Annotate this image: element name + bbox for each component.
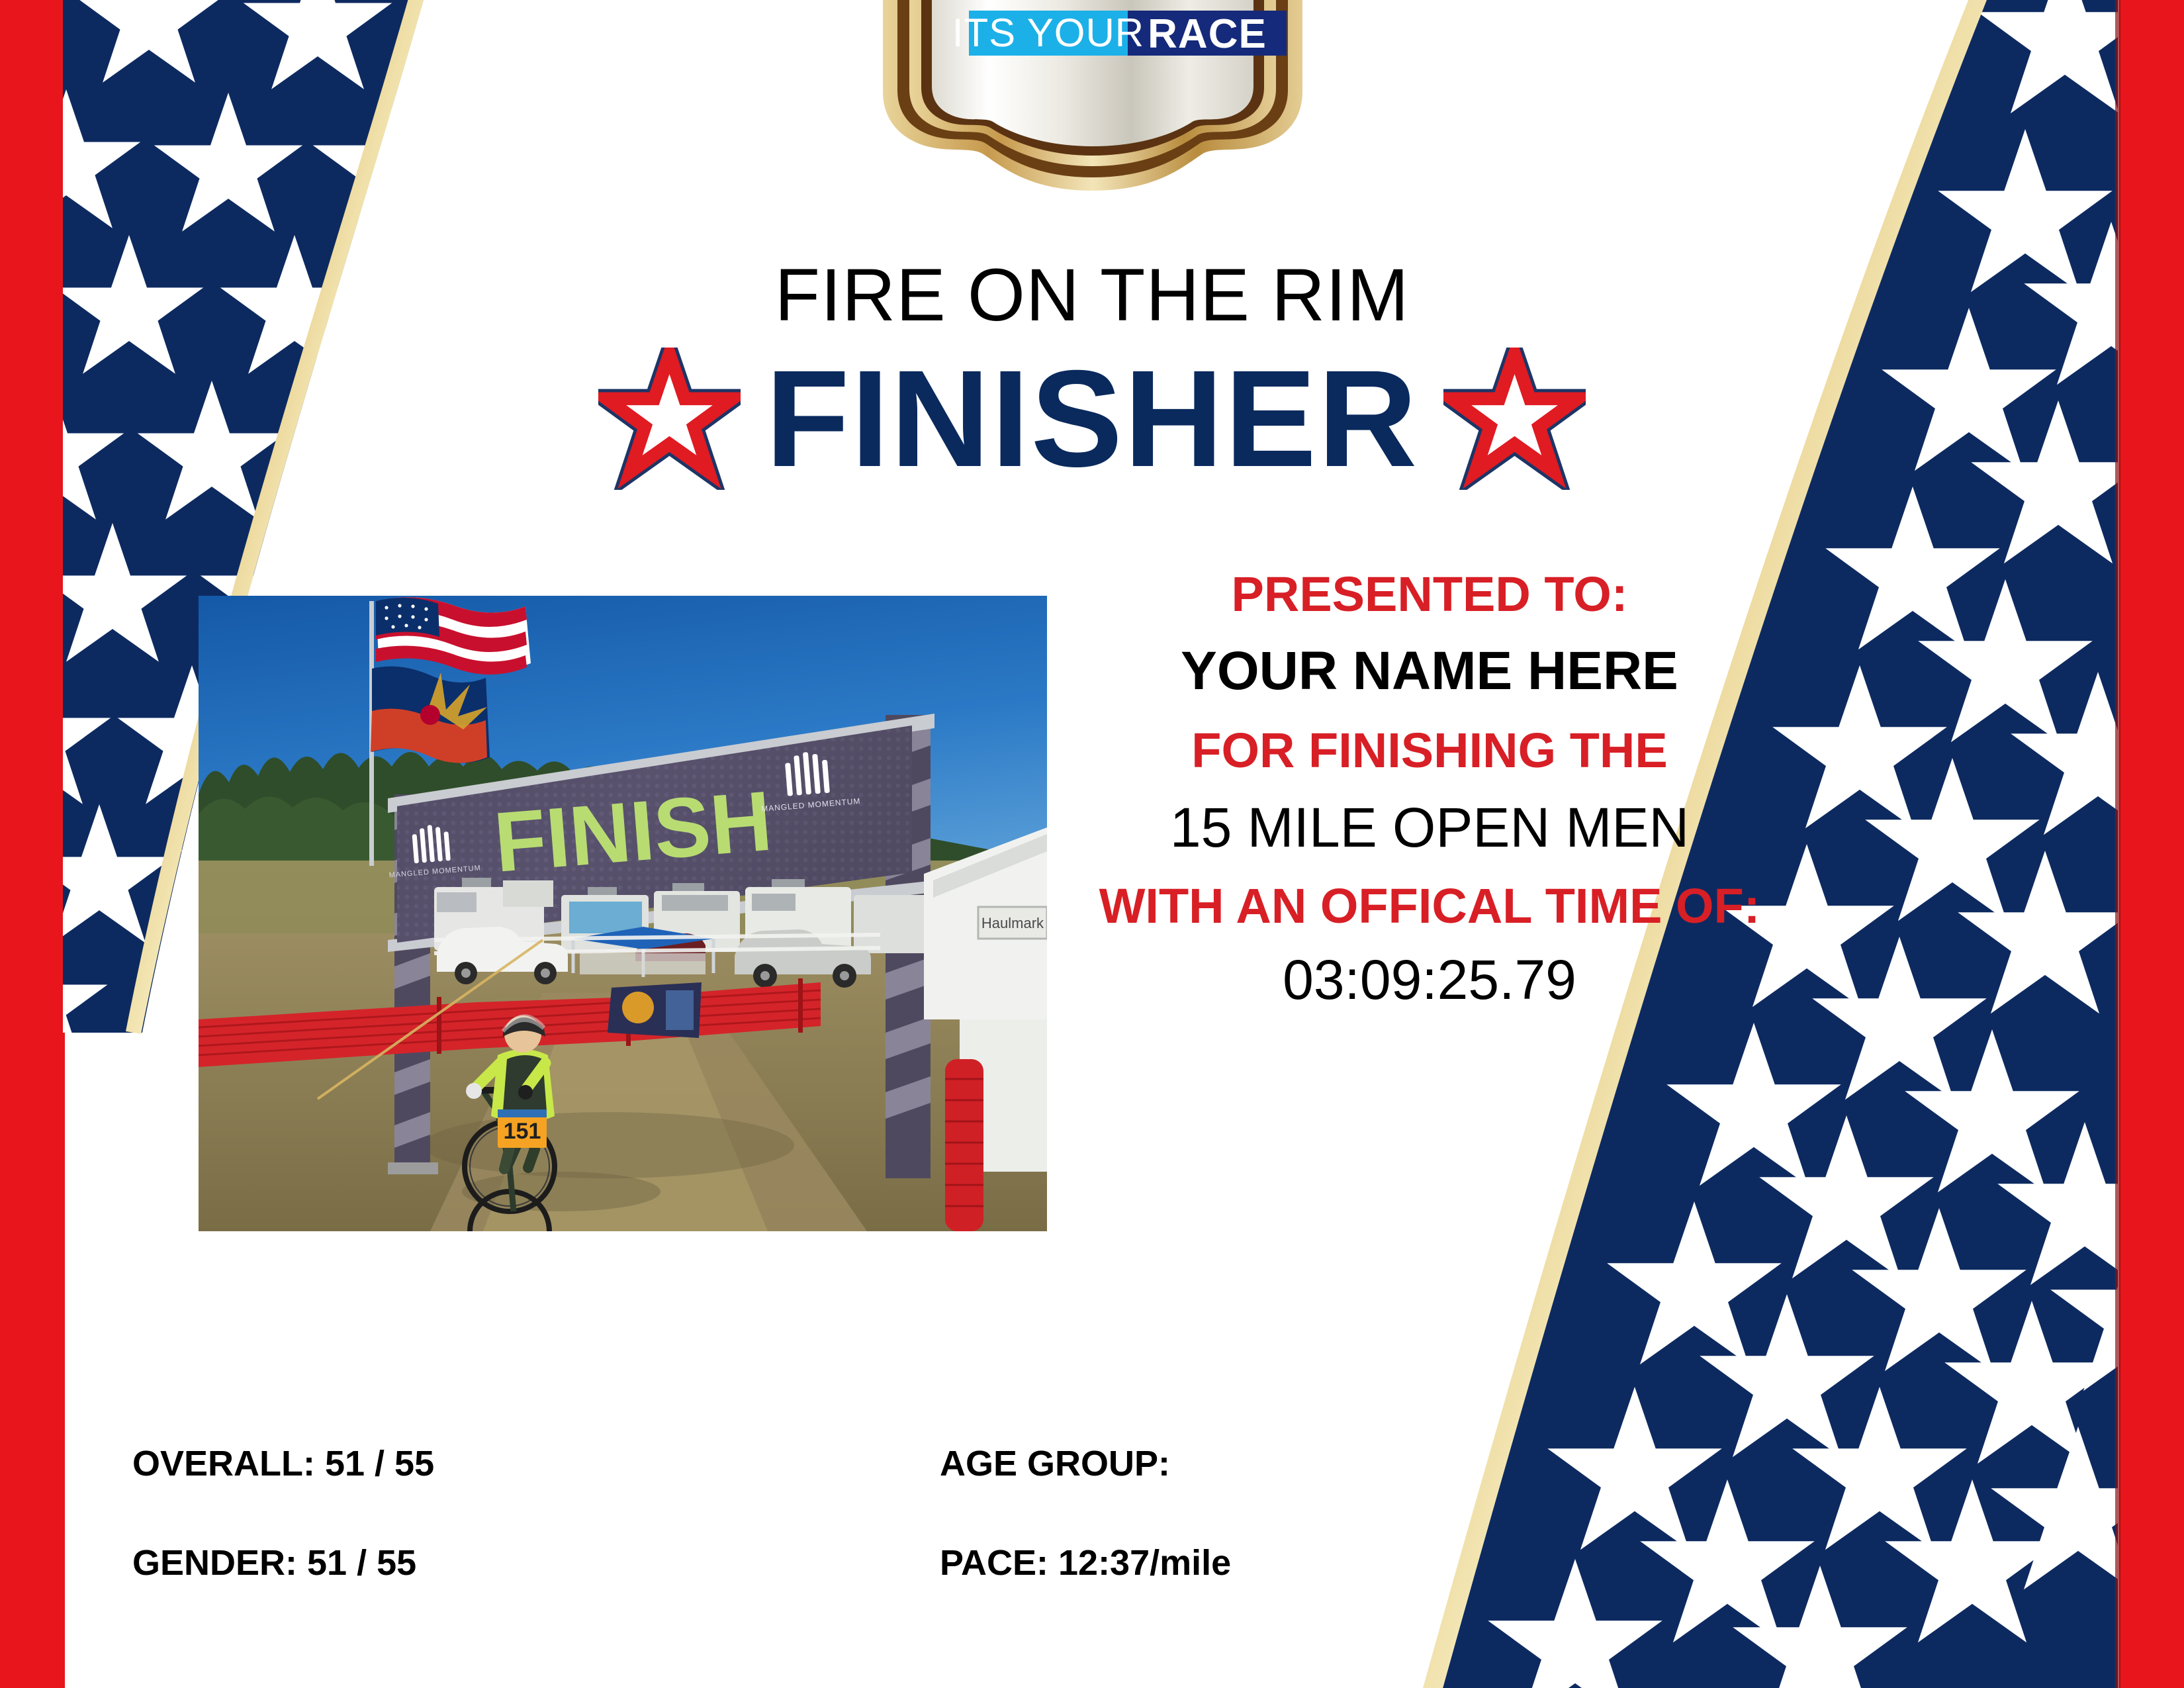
stat-overall: OVERALL: 51 / 55 [132,1443,940,1484]
official-time: 03:09:25.79 [1072,951,1787,1009]
stat-pace: PACE: 12:37/mile [940,1542,1231,1583]
decorative-star-left [598,348,741,490]
stat-gender: GENDER: 51 / 55 [132,1542,940,1583]
official-time-label: WITH AN OFFICAL TIME OF: [1072,881,1787,932]
decorative-star-right [1443,348,1586,490]
result-stats: OVERALL: 51 / 55 AGE GROUP: GENDER: 51 /… [132,1443,1456,1642]
race-name-title: FIRE ON THE RIM [0,258,2184,332]
stats-row-2: GENDER: 51 / 55 PACE: 12:37/mile [132,1542,1456,1583]
stats-row-1: OVERALL: 51 / 55 AGE GROUP: [132,1443,1456,1484]
finish-line-photo: FINISH MANGLED MOMENTUM [199,596,1047,1231]
logo-text-dark: RACE [1148,11,1267,57]
stat-age-group: AGE GROUP: [940,1443,1170,1484]
bib-number: 151 [504,1119,541,1144]
right-red-stripe [2119,0,2184,1688]
event-category: 15 MILE OPEN MEN [1072,799,1787,857]
left-red-stripe [0,0,65,1688]
for-finishing-label: FOR FINISHING THE [1072,726,1787,776]
its-your-race-logo: ITS YOUR RACE [871,0,1314,204]
recipient-name: YOUR NAME HERE [1072,643,1787,699]
award-headline-row: FINISHER [0,348,2184,490]
award-details: PRESENTED TO: YOUR NAME HERE FOR FINISHI… [1072,569,1787,1009]
award-title: FINISHER [766,350,1419,488]
svg-text:Haulmark: Haulmark [981,915,1044,931]
logo-text-light: ITS YOUR [952,11,1144,55]
presented-to-label: PRESENTED TO: [1072,569,1787,620]
finisher-certificate: ITS YOUR RACE FIRE ON THE RIM FINISHER [0,0,2184,1688]
